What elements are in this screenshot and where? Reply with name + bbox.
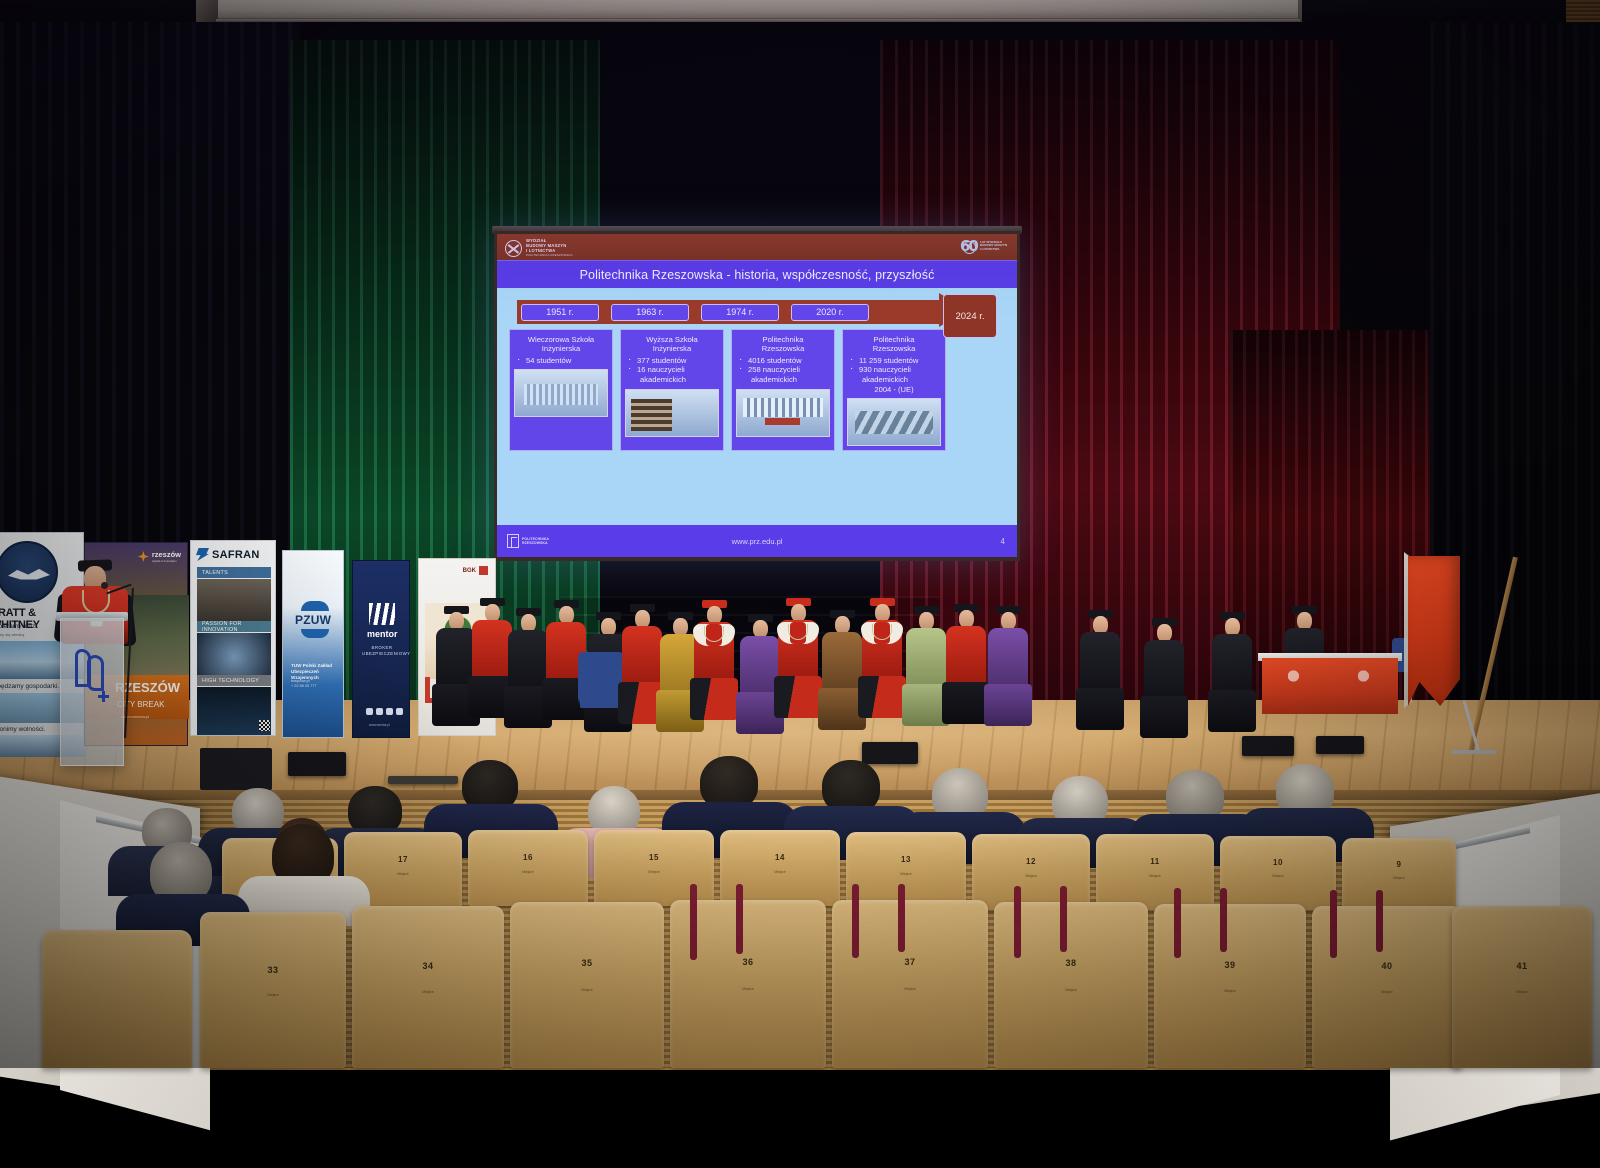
seat-sublabel: Miejsce (1149, 874, 1161, 878)
anniversary-number: 60 (960, 237, 977, 255)
seat-number: 34 (422, 961, 433, 971)
pratt-whitney-line-1-sub: Dzielimy się wiedzą. (0, 632, 25, 637)
rzeszow-name: rzeszów (152, 550, 181, 559)
cable-bundle (388, 776, 458, 784)
card2-heading-l1: Wyższa Szkoła (625, 335, 719, 344)
banner-pzuw: PZUW TUW Polski Zakład Ubezpieczeń Wzaje… (282, 550, 344, 738)
dignitary-lap (1208, 690, 1256, 732)
anniversary-logo: 60 LAT WYDZIAŁU BUDOWY MASZYN I LOTNICTW… (960, 237, 1007, 255)
banner-safran: SAFRAN TALENTS PASSION FOR INNOVATION HI… (190, 540, 276, 736)
card2-photo (625, 389, 719, 437)
anniversary-line-3: I LOTNICTWA (980, 248, 1007, 252)
dignitary-lap (942, 682, 990, 724)
card4-item-1: 11 259 studentów (847, 356, 941, 366)
pzuw-arc-bottom-icon (301, 629, 329, 638)
dignitary-13 (1078, 604, 1122, 730)
seat-sublabel: Miejsce (422, 990, 434, 994)
seat-number: 14 (775, 853, 785, 862)
seat-number: 13 (901, 855, 911, 864)
card1-heading: Wieczorowa Szkoła Inżynierska (514, 335, 608, 354)
seat-sublabel: Miejsce (1065, 988, 1077, 992)
seat-number: 10 (1273, 858, 1283, 867)
rector-lap (774, 676, 822, 718)
dignitary-robe (622, 626, 662, 690)
timeline-card-1974: Politechnika Rzeszowska 4016 studentów 2… (731, 329, 835, 451)
seat-34[interactable]: 34 Miejsce (352, 906, 504, 1068)
prz-footer-logo: POLITECHNIKA RZESZOWSKA (507, 534, 549, 548)
linkedin-icon (386, 708, 393, 715)
seat-sublabel: Miejsce (904, 987, 916, 991)
timeline-card-1963: Wyższa Szkoła Inżynierska 377 studentów … (620, 329, 724, 451)
faculty-emblem-icon (505, 240, 522, 257)
seat-sublabel: Miejsce (774, 870, 786, 874)
banner-mentor: mentor BROKER UBEZPIECZENIOWY www.mentor… (352, 560, 410, 738)
bgk-name: BGK (463, 568, 476, 574)
card1-item-1: 54 studentów (514, 356, 608, 366)
mentor-social-icons (366, 708, 403, 715)
seat-sublabel: Miejsce (1393, 876, 1405, 880)
dignitary-robe (906, 628, 946, 692)
seat-bag-strap (1330, 890, 1337, 958)
rector-3 (858, 592, 906, 736)
rector-1 (690, 594, 738, 736)
dignitary-12 (986, 600, 1030, 730)
timeline-card-2020: Politechnika Rzeszowska 11 259 studentów… (842, 329, 946, 451)
lectern-logo-r (87, 655, 104, 691)
pratt-whitney-line-1: Wspieramy ludzi. (0, 623, 38, 630)
seat-bag-strap (898, 884, 905, 952)
prz-footer-name: POLITECHNIKA RZESZOWSKA (522, 537, 549, 545)
seat-foreground-left[interactable] (42, 930, 192, 1068)
card2-item-2-cont: akademickich (625, 375, 719, 385)
auditorium-scene: WYDZIAŁ BUDOWY MASZYN I LOTNICTWA POLITE… (0, 0, 1600, 1068)
ceremonial-flag (1408, 556, 1460, 706)
card4-heading-l2: Rzeszowska (847, 344, 941, 353)
seat-bag-strap (690, 884, 697, 960)
safran-image-2 (197, 633, 271, 681)
prz-footer-l2: RZESZOWSKA (522, 541, 549, 545)
seat-number: 17 (398, 855, 408, 864)
seat-number: 15 (649, 853, 659, 862)
card4-heading-l1: Politechnika (847, 335, 941, 344)
rzeszow-subhead: CITY BREAK (117, 700, 164, 709)
card4-photo (847, 398, 941, 446)
timeline-card-1951: Wieczorowa Szkoła Inżynierska 54 student… (509, 329, 613, 451)
microphone-head-icon (101, 582, 108, 589)
rzeszow-logo: rzeszów capital of innovation (138, 550, 181, 563)
bgk-logo: BGK (463, 566, 488, 575)
card1-list: 54 studentów (514, 356, 608, 366)
seat-sublabel: Miejsce (397, 872, 409, 876)
dignitary-robe (988, 628, 1028, 692)
projection-screen: WYDZIAŁ BUDOWY MASZYN I LOTNICTWA POLITE… (494, 231, 1020, 561)
rector-2 (774, 592, 822, 736)
slide-title: Politechnika Rzeszowska - historia, wspó… (580, 268, 935, 282)
pratt-whitney-eagle-icon (0, 541, 58, 603)
dignitary-15 (1210, 606, 1254, 732)
dignitary-lap (1140, 696, 1188, 738)
card4-list: 11 259 studentów 930 nauczycieli (847, 356, 941, 375)
stage-monitor-left (288, 752, 346, 776)
card4-item-2: 930 nauczycieli (847, 365, 941, 375)
seat-number: 33 (267, 965, 278, 975)
seat-bag-strap (1220, 888, 1227, 952)
seat-number: 37 (904, 957, 915, 967)
card1-photo (514, 369, 608, 417)
mentor-mark-icon (369, 603, 395, 625)
pzuw-contact: tuwpzuw.pl + 22 58 25 777 (291, 679, 316, 689)
card4-item-2-cont: akademickich (847, 375, 941, 385)
rector-lap (690, 678, 738, 720)
seat-sublabel: Miejsce (1516, 990, 1528, 994)
timeline-cards: Wieczorowa Szkoła Inżynierska 54 student… (509, 329, 1005, 451)
dignitary-lap (984, 684, 1032, 726)
flag-stand (1448, 700, 1498, 754)
seat-bag-strap (1060, 886, 1067, 952)
prz-lectern-logo-icon (75, 649, 111, 707)
seat-33[interactable]: 33 Miejsce (200, 912, 346, 1068)
seat-sublabel: Miejsce (581, 988, 593, 992)
card3-item-1: 4016 studentów (736, 356, 830, 366)
slide-header-band: WYDZIAŁ BUDOWY MASZYN I LOTNICTWA POLITE… (497, 234, 1017, 260)
safran-logo: SAFRAN (196, 548, 260, 561)
card2-heading: Wyższa Szkoła Inżynierska (625, 335, 719, 354)
seat-bag-strap (736, 884, 743, 954)
seat-number: 38 (1065, 958, 1076, 968)
stage-monitor-right (1242, 736, 1294, 756)
floor-speaker-box (200, 748, 272, 790)
stage-monitor-center (862, 742, 918, 764)
seat-number: 35 (581, 958, 592, 968)
seat-sublabel: Miejsce (648, 870, 660, 874)
timeline-year-2: 1963 r. (611, 304, 689, 321)
timeline-year-4: 2020 r. (791, 304, 869, 321)
safran-mark-icon (196, 548, 209, 561)
dignitary-14 (1142, 612, 1186, 734)
table-crest-right-icon (1358, 670, 1376, 682)
pzuw-name: PZUW (295, 613, 331, 627)
bgk-square-icon (479, 566, 488, 575)
seat-number: 11 (1150, 857, 1159, 866)
card3-heading-l1: Politechnika (736, 335, 830, 344)
seat-sublabel: Miejsce (522, 870, 534, 874)
faculty-logo: WYDZIAŁ BUDOWY MASZYN I LOTNICTWA POLITE… (505, 238, 573, 258)
seat-sublabel: Miejsce (1025, 874, 1037, 878)
instagram-icon (376, 708, 383, 715)
card3-heading-l2: Rzeszowska (736, 344, 830, 353)
card3-list: 4016 studentów 258 nauczycieli (736, 356, 830, 375)
mentor-sub-2: UBEZPIECZENIOWY (362, 651, 402, 657)
timeline-year-final: 2024 r. (943, 294, 997, 338)
presentation-slide: WYDZIAŁ BUDOWY MASZYN I LOTNICTWA POLITE… (497, 234, 1017, 557)
seat-bag-strap (1174, 888, 1181, 958)
presidium-table (1262, 658, 1398, 714)
dignitary-lap (1076, 688, 1124, 730)
dignitary-robe (1080, 632, 1120, 696)
safran-tag-talents: TALENTS (197, 567, 271, 578)
seat-number: 36 (742, 957, 753, 967)
seat-sublabel: Miejsce (1224, 989, 1236, 993)
seat-bag-strap (1014, 886, 1021, 958)
seat-bag-strap (1376, 890, 1383, 952)
card2-heading-l2: Inżynierska (625, 344, 719, 353)
pzuw-phone: + 22 58 25 777 (291, 684, 316, 689)
rzeszow-star-icon (138, 551, 149, 562)
lectern-logo-cross (98, 691, 109, 702)
seat-sublabel: Miejsce (900, 872, 912, 876)
seat-sublabel: Miejsce (1381, 990, 1393, 994)
rzeszow-tagline: capital of innovation (152, 559, 181, 563)
safran-tag-technology: HIGH TECHNOLOGY (197, 675, 271, 686)
card3-item-2: 258 nauczycieli (736, 365, 830, 375)
seat-11[interactable]: 11 Miejsce (1096, 834, 1214, 910)
slide-body: 1951 r. 1963 r. 1974 r. 2020 r. 2024 r. … (497, 288, 1017, 520)
facebook-icon (366, 708, 373, 715)
faculty-line-sub: POLITECHNIKA RZESZOWSKA (526, 253, 573, 258)
seat-12[interactable]: 12 Miejsce (972, 834, 1090, 910)
slide-footer: POLITECHNIKA RZESZOWSKA www.prz.edu.pl 4 (497, 525, 1017, 557)
timeline-arrow-row: 1951 r. 1963 r. 1974 r. 2020 r. 2024 r. (509, 298, 1005, 326)
seat-sublabel: Miejsce (267, 993, 279, 997)
pzuw-line-1: TUW Polski Zakład Ubezpieczeń Wzajemnych (291, 663, 343, 680)
mentor-url: www.mentor.pl (369, 723, 390, 727)
dignitary-robe (1144, 640, 1184, 704)
card3-photo (736, 389, 830, 437)
anniversary-text: LAT WYDZIAŁU BUDOWY MASZYN I LOTNICTWA (980, 241, 1007, 252)
card3-heading: Politechnika Rzeszowska (736, 335, 830, 354)
pzuw-arc-top-icon (301, 601, 329, 611)
seat-35[interactable]: 35 Miejsce (510, 902, 664, 1068)
seat-13[interactable]: 13 Miejsce (846, 832, 966, 908)
pratt-whitney-line-2: Napędzamy gospodarki. (0, 683, 59, 690)
card4-extra: 2004 - (UE) (847, 385, 941, 395)
seat-bag-strap (852, 884, 859, 958)
prz-glyph-icon (507, 534, 519, 548)
timeline-year-1: 1951 r. (521, 304, 599, 321)
dignitary-robe (946, 626, 986, 690)
card2-list: 377 studentów 16 nauczycieli (625, 356, 719, 375)
slide-footer-url: www.prz.edu.pl (732, 537, 783, 546)
seat-9[interactable]: 9 Miejsce (1342, 838, 1456, 912)
seat-number: 40 (1381, 961, 1392, 971)
stage-monitor-far-right (1316, 736, 1364, 754)
seat-41[interactable]: 41 Miejsce (1452, 906, 1592, 1068)
ceiling-valance (218, 0, 1298, 20)
slide-page-number: 4 (1001, 537, 1005, 546)
timeline-year-3: 1974 r. (701, 304, 779, 321)
table-crest-left-icon (1288, 670, 1306, 682)
seat-number: 12 (1026, 857, 1036, 866)
card1-heading-l2: Inżynierska (514, 344, 608, 353)
rector-lap (858, 676, 906, 718)
dignitary-11 (944, 598, 988, 730)
seat-number: 16 (523, 853, 533, 862)
slide-title-bar: Politechnika Rzeszowska - historia, wspó… (497, 260, 1017, 288)
seat-number: 9 (1397, 860, 1402, 869)
safran-name: SAFRAN (212, 549, 260, 561)
seat-number: 41 (1516, 961, 1527, 971)
seat-10[interactable]: 10 Miejsce (1220, 836, 1336, 910)
safran-qr-code-icon (259, 720, 270, 731)
card2-item-2: 16 nauczycieli (625, 365, 719, 375)
card2-item-1: 377 studentów (625, 356, 719, 366)
seat-sublabel: Miejsce (1272, 874, 1284, 878)
card4-heading: Politechnika Rzeszowska (847, 335, 941, 354)
rzeszow-headline: RZESZÓW (115, 680, 180, 695)
lectern (60, 618, 124, 766)
card3-item-2-cont: akademickich (736, 375, 830, 385)
seat-sublabel: Miejsce (742, 987, 754, 991)
youtube-icon (396, 708, 403, 715)
seat-number: 39 (1224, 960, 1235, 970)
mentor-subtitle: BROKER UBEZPIECZENIOWY (362, 645, 402, 656)
pratt-whitney-line-3: Chronimy wolności. (0, 726, 45, 733)
mentor-name: mentor (367, 629, 398, 639)
dignitary-robe (1212, 634, 1252, 698)
faculty-logo-text: WYDZIAŁ BUDOWY MASZYN I LOTNICTWA POLITE… (526, 238, 573, 258)
dignitary-robe (822, 632, 862, 696)
safran-tag-innovation: PASSION FOR INNOVATION (197, 621, 271, 632)
seat-16[interactable]: 16 Miejsce (468, 830, 588, 906)
card1-heading-l1: Wieczorowa Szkoła (514, 335, 608, 344)
